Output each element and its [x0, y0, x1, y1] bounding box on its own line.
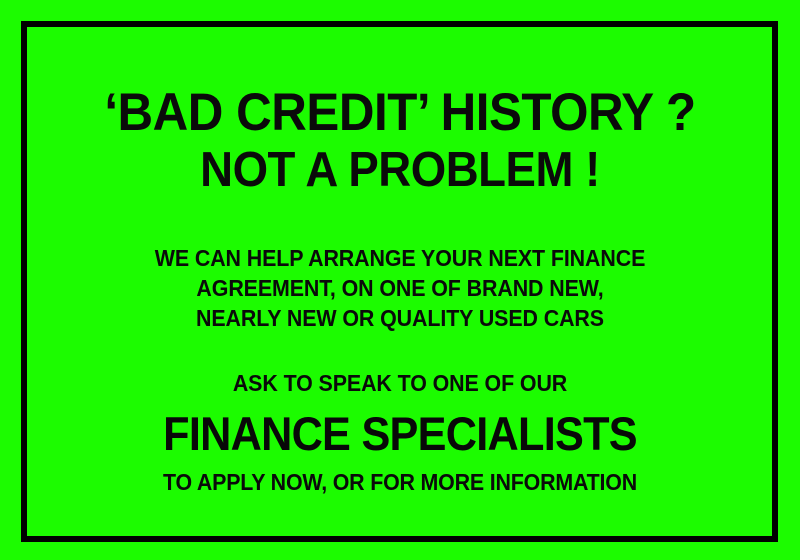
body-line-1: WE CAN HELP ARRANGE YOUR NEXT FINANCE [28, 243, 772, 273]
poster-content: ‘BAD CREDIT’ HISTORY ? NOT A PROBLEM ! W… [0, 0, 800, 560]
body-line-2: AGREEMENT, ON ONE OF BRAND NEW, [28, 273, 772, 303]
headline-line-1: ‘BAD CREDIT’ HISTORY ? [28, 86, 772, 140]
body-text-block: WE CAN HELP ARRANGE YOUR NEXT FINANCE AG… [0, 243, 800, 333]
body-line-3: NEARLY NEW OR QUALITY USED CARS [28, 303, 772, 333]
headline-line-2: NOT A PROBLEM ! [28, 146, 772, 196]
cta-footer: TO APPLY NOW, OR FOR MORE INFORMATION [28, 469, 772, 497]
headline-block: ‘BAD CREDIT’ HISTORY ? NOT A PROBLEM ! [0, 86, 800, 196]
advertisement-poster: ‘BAD CREDIT’ HISTORY ? NOT A PROBLEM ! W… [0, 0, 800, 560]
call-to-action-block: ASK TO SPEAK TO ONE OF OUR FINANCE SPECI… [0, 370, 800, 496]
cta-prompt: ASK TO SPEAK TO ONE OF OUR [28, 370, 772, 398]
cta-headline: FINANCE SPECIALISTS [32, 409, 768, 460]
